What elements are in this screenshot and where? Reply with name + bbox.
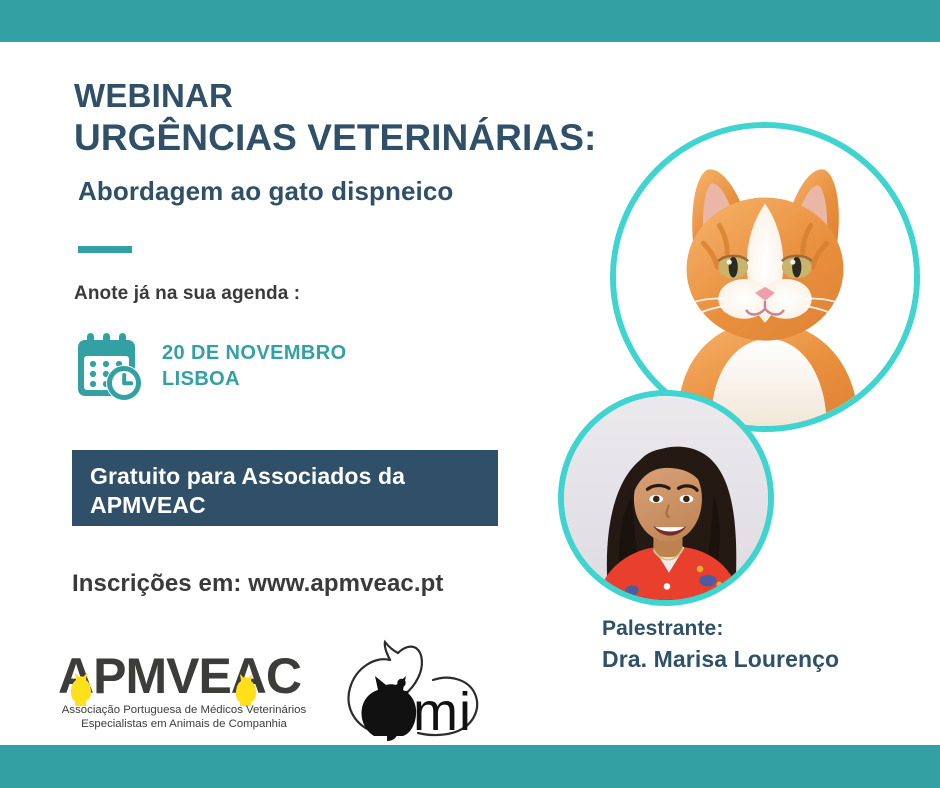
svg-text:imi: imi: [400, 682, 472, 742]
speaker-role-label: Palestrante:: [602, 615, 839, 644]
page-title: URGÊNCIAS VETERINÁRIAS:: [74, 117, 674, 160]
svg-text:APMVEAC: APMVEAC: [58, 648, 301, 704]
apmveac-tagline-line-2: Especialistas em Animais de Companhia: [81, 718, 287, 730]
agenda-note: Anote já na sua agenda :: [74, 283, 300, 305]
cat-photo-circle: [610, 122, 920, 432]
registration-text[interactable]: Inscrições em: www.apmveac.pt: [72, 570, 444, 598]
divider-rule: [78, 246, 132, 253]
date-text: 20 DE NOVEMBRO LISBOA: [162, 341, 347, 392]
top-teal-band: [0, 0, 940, 42]
event-location: LISBOA: [162, 367, 347, 393]
speaker-name: Dra. Marisa Lourenço: [602, 644, 839, 676]
jimi-logo: imi: [338, 638, 488, 751]
calendar-clock-icon: [74, 332, 148, 402]
headline-block: WEBINAR URGÊNCIAS VETERINÁRIAS: Abordage…: [74, 78, 674, 207]
free-for-members-banner: Gratuito para Associados da APMVEAC: [72, 450, 498, 526]
banner-line-2: APMVEAC: [90, 491, 498, 520]
apmveac-logo: APMVEAC Associação Portuguesa de Médicos…: [58, 648, 310, 737]
page-subtitle: Abordagem ao gato dispneico: [78, 176, 674, 207]
bottom-teal-band: [0, 745, 940, 788]
cat-photo: [616, 128, 914, 426]
date-row: 20 DE NOVEMBRO LISBOA: [74, 332, 347, 402]
banner-line-1: Gratuito para Associados da: [90, 462, 498, 491]
speaker-photo-circle: [558, 390, 774, 606]
apmveac-tagline-line-1: Associação Portuguesa de Médicos Veterin…: [62, 704, 307, 716]
event-date: 20 DE NOVEMBRO: [162, 341, 347, 367]
webinar-kicker: WEBINAR: [74, 78, 674, 115]
speaker-caption: Palestrante: Dra. Marisa Lourenço: [602, 615, 839, 676]
speaker-photo: [564, 396, 768, 600]
webinar-poster: WEBINAR URGÊNCIAS VETERINÁRIAS: Abordage…: [0, 0, 940, 788]
